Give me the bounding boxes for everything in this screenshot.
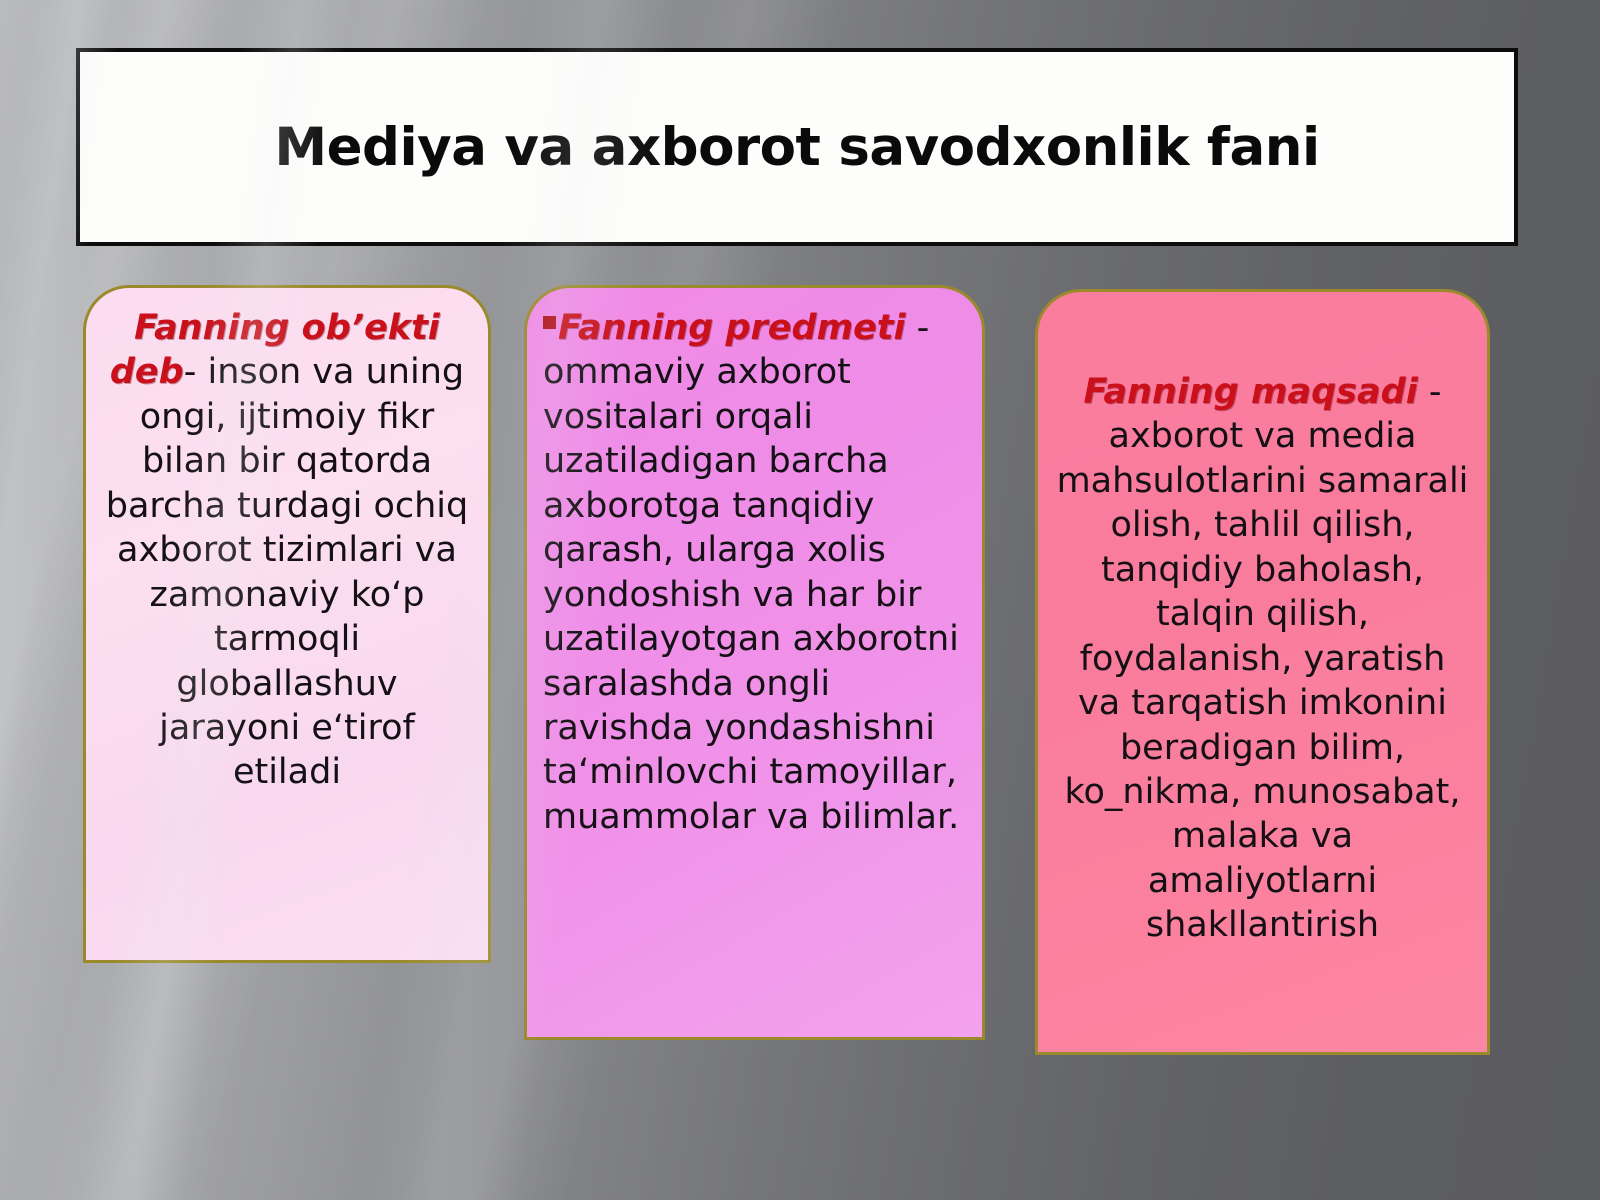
card-lead-fanning-predmeti: Fanning predmeti [558, 308, 906, 348]
card-fanning-obekti: Fanning ob’ekti deb- inson va uning ongi… [83, 285, 491, 963]
card-text-fanning-maqsadi: - axborot va media mahsulotlarini samara… [1057, 372, 1469, 945]
card-lead-fanning-maqsadi: Fanning maqsadi [1084, 372, 1418, 412]
card-fanning-maqsadi: Fanning maqsadi - axborot va media mahsu… [1035, 289, 1490, 1055]
card-body-fanning-obekti: Fanning ob’ekti deb- inson va uning ongi… [102, 306, 472, 795]
card-text-fanning-obekti: - inson va uning ongi, ijtimoiy fikr bil… [106, 352, 468, 792]
slide-canvas: Mediya va axborot savodxonlik fani Fanni… [0, 0, 1600, 1200]
page-title: Mediya va axborot savodxonlik fani [274, 117, 1319, 178]
card-fanning-predmeti: Fanning predmeti - ommaviy axborot vosit… [524, 285, 985, 1040]
card-body-fanning-predmeti: Fanning predmeti - ommaviy axborot vosit… [543, 306, 966, 839]
square-bullet-icon [543, 316, 556, 329]
title-box: Mediya va axborot savodxonlik fani [76, 48, 1518, 246]
card-body-fanning-maqsadi: Fanning maqsadi - axborot va media mahsu… [1054, 370, 1471, 948]
card-text-fanning-predmeti: - ommaviy axborot vositalari orqali uzat… [543, 308, 959, 837]
